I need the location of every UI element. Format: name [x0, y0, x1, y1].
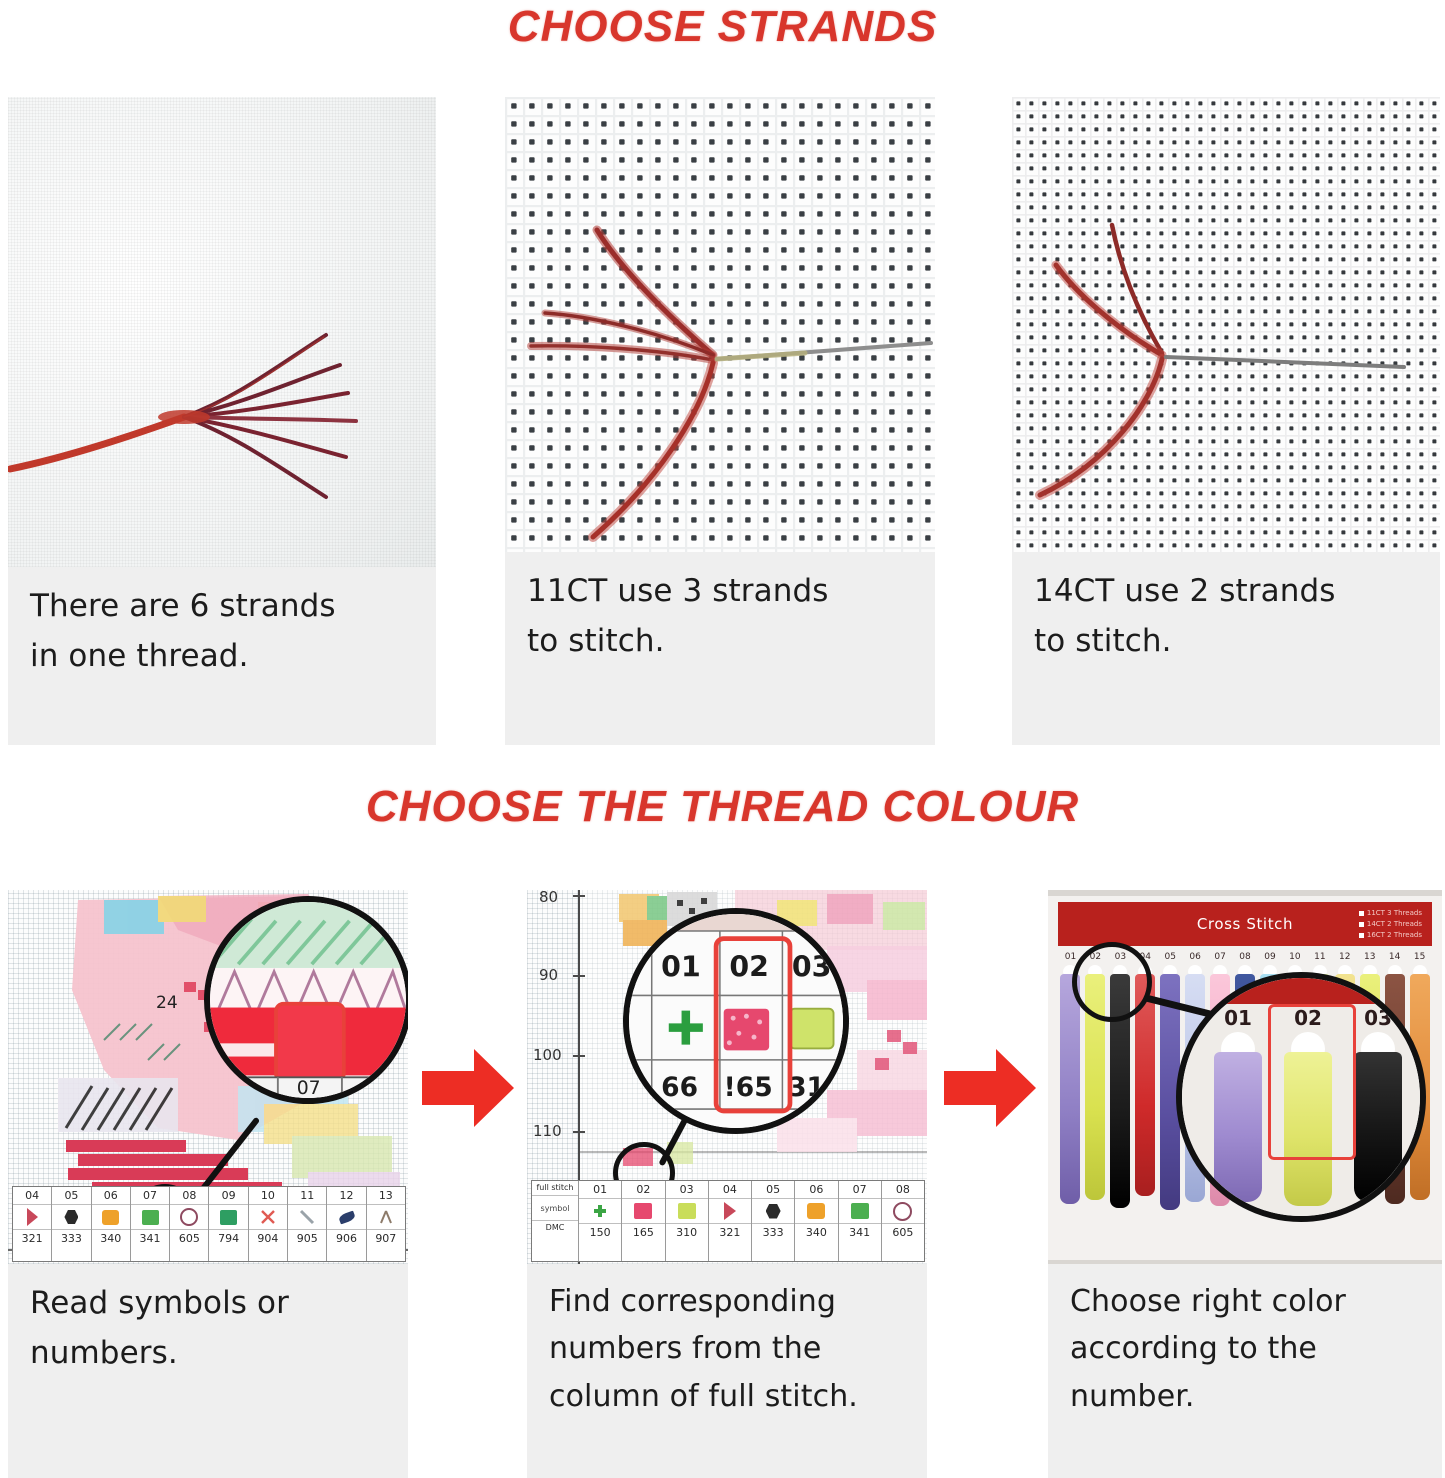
- magnifier-zoom-circle: 01 02 03: [1176, 972, 1426, 1222]
- legend-number: 02: [622, 1181, 664, 1199]
- card-14ct: 14CT use 2 strands to stitch.: [1012, 97, 1440, 745]
- legend-number: 11: [288, 1187, 326, 1205]
- legend-code: 340: [795, 1223, 837, 1241]
- legend-number: 04: [709, 1181, 751, 1199]
- svg-text:3: 3: [238, 1078, 250, 1098]
- legend-symbol-orange-square-icon: [92, 1205, 130, 1229]
- legend-number: 10: [249, 1187, 287, 1205]
- caption-choose-color: Choose right color according to the numb…: [1048, 1264, 1442, 1420]
- photo-thread-strands: [8, 97, 436, 567]
- skein-number: 13: [1357, 952, 1382, 962]
- caption-line: There are 6 strands: [30, 581, 414, 631]
- legend-symbol-grey-slash-icon: [288, 1205, 326, 1229]
- legend-column: 04 321: [709, 1181, 752, 1261]
- svg-text:!65: !65: [724, 1072, 773, 1103]
- legend-symbol-dark-green-square-icon: [209, 1205, 247, 1229]
- needle-icon: [505, 97, 935, 552]
- svg-text:02: 02: [729, 950, 769, 983]
- svg-text:310: 310: [788, 1072, 843, 1103]
- legend-table-symbols: 04 321 05 333 06 340 07: [12, 1186, 406, 1262]
- legend-column: 09 794: [209, 1187, 248, 1261]
- legend-column: 02 165: [622, 1181, 665, 1261]
- right-arrow-icon: [418, 1043, 518, 1133]
- photo-14ct-aida: [1012, 97, 1440, 552]
- legend-code: 341: [131, 1229, 169, 1247]
- checklist-item: 11CT 3 Threads: [1367, 908, 1422, 919]
- caption-11ct: 11CT use 3 strands to stitch.: [505, 552, 935, 666]
- legend-code: 794: [209, 1229, 247, 1247]
- legend-code: 165: [622, 1223, 664, 1241]
- legend-symbol-compass-icon: [367, 1205, 405, 1229]
- legend-code: 605: [170, 1229, 208, 1247]
- photo-thread-organizer: Cross Stitch 11CT 3 Threads 14CT 2 Threa…: [1048, 890, 1442, 1264]
- legend-number: 12: [327, 1187, 365, 1205]
- legend-number: 06: [92, 1187, 130, 1205]
- legend-code: 907: [367, 1229, 405, 1247]
- caption-line: Choose right color: [1070, 1278, 1420, 1325]
- magnifier-label: 07: [297, 1078, 321, 1098]
- legend-number: 09: [209, 1187, 247, 1205]
- magnifier-small-circle: [1072, 942, 1152, 1022]
- legend-code: 341: [839, 1223, 881, 1241]
- card-read-symbols: 24 07 3: [8, 890, 408, 1478]
- legend-number: 08: [170, 1187, 208, 1205]
- row-label: 80: [539, 890, 558, 906]
- checklist-item: 14CT 2 Threads: [1367, 919, 1422, 930]
- card-11ct: 11CT use 3 strands to stitch.: [505, 97, 935, 745]
- checklist-item: 16CT 2 Threads: [1367, 930, 1422, 941]
- svg-text:66: 66: [661, 1072, 698, 1103]
- legend-symbol-black-hex-icon: [52, 1205, 90, 1229]
- caption-line: numbers from the: [549, 1325, 905, 1372]
- legend-column: 06 340: [795, 1181, 838, 1261]
- skein-floss: [1060, 974, 1080, 1204]
- caption-read-symbols: Read symbols or numbers.: [8, 1264, 408, 1378]
- skein-number: 11: [1307, 952, 1332, 962]
- legend-number: 04: [13, 1187, 51, 1205]
- right-arrow-icon: [940, 1043, 1040, 1133]
- legend-symbol-pink-square-icon: [622, 1199, 664, 1223]
- legend-column: 10 904: [249, 1187, 288, 1261]
- row-label: 110: [533, 1122, 562, 1140]
- legend-code: 150: [579, 1223, 621, 1241]
- skein-number: 06: [1183, 952, 1208, 962]
- legend-column: 05 333: [52, 1187, 91, 1261]
- legend-symbol-yellow-green-square-icon: [666, 1199, 708, 1223]
- caption-line: 11CT use 3 strands: [527, 566, 913, 616]
- legend-code: 333: [52, 1229, 90, 1247]
- legend-column: 08 605: [882, 1181, 924, 1261]
- caption-line: to stitch.: [1034, 616, 1418, 666]
- page-title-choose-thread-colour: CHOOSE THE THREAD COLOUR: [0, 782, 1445, 832]
- thread-splitting-icon: [8, 97, 436, 567]
- legend-column: 08 605: [170, 1187, 209, 1261]
- legend-symbol-triangle-flag-icon: [709, 1199, 751, 1223]
- legend-number: 05: [752, 1181, 794, 1199]
- legend-symbol-orange-square-icon: [795, 1199, 837, 1223]
- card-find-numbers: 80 90 100 110 01 02: [527, 890, 927, 1478]
- legend-code: 321: [709, 1223, 751, 1241]
- caption-line: column of full stitch.: [549, 1373, 905, 1420]
- skein-number: 12: [1332, 952, 1357, 962]
- legend-code: 310: [666, 1223, 708, 1241]
- legend-code: 605: [882, 1223, 924, 1241]
- legend-code: 340: [92, 1229, 130, 1247]
- legend-symbol-green-square-icon: [839, 1199, 881, 1223]
- legend-number: 07: [839, 1181, 881, 1199]
- caption-line: number.: [1070, 1373, 1420, 1420]
- skein-floss: [1354, 1052, 1402, 1202]
- legend-code: 906: [327, 1229, 365, 1247]
- legend-symbol-red-cross-icon: [249, 1205, 287, 1229]
- skein-number: 14: [1382, 952, 1407, 962]
- photo-chart-with-legend: 80 90 100 110 01 02: [527, 890, 927, 1264]
- legend-row-headers: full stitch symbol DMC: [532, 1181, 579, 1261]
- row-label: 100: [533, 1046, 562, 1064]
- legend-number: 06: [795, 1181, 837, 1199]
- legend-column: 03 310: [666, 1181, 709, 1261]
- card-strands: There are 6 strands in one thread.: [8, 97, 436, 745]
- skein-number: 09: [1258, 952, 1283, 962]
- legend-symbol-open-circle-icon: [170, 1205, 208, 1229]
- needle-icon: [1012, 97, 1440, 552]
- legend-column: 07 341: [839, 1181, 882, 1261]
- legend-symbol-triangle-flag-icon: [13, 1205, 51, 1229]
- legend-symbol-open-circle-icon: [882, 1199, 924, 1223]
- legend-code: 905: [288, 1229, 326, 1247]
- card-choose-color: Cross Stitch 11CT 3 Threads 14CT 2 Threa…: [1048, 890, 1442, 1478]
- skein-number: 05: [1158, 952, 1183, 962]
- legend-column: 13 907: [367, 1187, 405, 1261]
- legend-number: 05: [52, 1187, 90, 1205]
- legend-number: 01: [579, 1181, 621, 1199]
- skein-number: 15: [1407, 952, 1432, 962]
- legend-code: 333: [752, 1223, 794, 1241]
- thread-card-title: Cross Stitch: [1197, 915, 1293, 933]
- legend-column: 11 905: [288, 1187, 327, 1261]
- magnifier-zoom-circle: 01 02 03 66 !65 310: [623, 908, 849, 1134]
- photo-11ct-aida: [505, 97, 935, 552]
- skein-number: 07: [1208, 952, 1233, 962]
- caption-14ct: 14CT use 2 strands to stitch.: [1012, 552, 1440, 666]
- legend-code: 904: [249, 1229, 287, 1247]
- legend-symbol-navy-leaf-icon: [327, 1205, 365, 1229]
- skein-floss: [1214, 1052, 1262, 1202]
- legend-number: 08: [882, 1181, 924, 1199]
- caption-find-numbers: Find corresponding numbers from the colu…: [527, 1264, 927, 1420]
- caption-line: according to the: [1070, 1325, 1420, 1372]
- legend-number: 07: [131, 1187, 169, 1205]
- legend-number: 13: [367, 1187, 405, 1205]
- legend-column: 01 150: [579, 1181, 622, 1261]
- caption-strands: There are 6 strands in one thread.: [8, 567, 436, 681]
- legend-column: 04 321: [13, 1187, 52, 1261]
- legend-column: 07 341: [131, 1187, 170, 1261]
- legend-column: 12 906: [327, 1187, 366, 1261]
- legend-symbol-green-square-icon: [131, 1205, 169, 1229]
- legend-row-header: full stitch: [532, 1181, 578, 1196]
- legend-code: 321: [13, 1229, 51, 1247]
- skein-number: 08: [1233, 952, 1258, 962]
- legend-symbol-green-plus-icon: [579, 1199, 621, 1223]
- caption-line: Read symbols or: [30, 1278, 386, 1328]
- caption-line: 14CT use 2 strands: [1034, 566, 1418, 616]
- chart-area-number: 24: [156, 993, 178, 1013]
- legend-row-header: DMC: [532, 1220, 578, 1235]
- caption-line: numbers.: [30, 1328, 386, 1378]
- skein-number: 10: [1282, 952, 1307, 962]
- magnified-legend-detail: 01 02 03 66 !65 310: [629, 914, 843, 1128]
- magnifier-zoom-circle: 3 07: [204, 896, 408, 1104]
- caption-line: Find corresponding: [549, 1278, 905, 1325]
- svg-text:03: 03: [792, 950, 832, 983]
- caption-line: in one thread.: [30, 631, 414, 681]
- legend-row-header: symbol: [532, 1196, 578, 1220]
- page-title-choose-strands: CHOOSE STRANDS: [0, 2, 1445, 52]
- photo-pattern-chart: 24 07 3: [8, 890, 408, 1264]
- magnified-skein-number: 01: [1206, 1006, 1270, 1030]
- magnified-stitch-detail: 3 07: [210, 902, 406, 1098]
- highlight-box-selected-color: [1268, 1004, 1356, 1160]
- thread-card-checklist: 11CT 3 Threads 14CT 2 Threads 16CT 2 Thr…: [1359, 908, 1422, 941]
- row-label: 90: [539, 966, 558, 984]
- legend-table-full-stitch: full stitch symbol DMC 01 150 02 165 03: [531, 1180, 925, 1262]
- legend-symbol-black-hex-icon: [752, 1199, 794, 1223]
- legend-number: 03: [666, 1181, 708, 1199]
- magnified-skein: 01: [1206, 1006, 1270, 1216]
- thread-card-header: Cross Stitch 11CT 3 Threads 14CT 2 Threa…: [1058, 902, 1432, 946]
- legend-column: 06 340: [92, 1187, 131, 1261]
- legend-column: 05 333: [752, 1181, 795, 1261]
- caption-line: to stitch.: [527, 616, 913, 666]
- svg-text:01: 01: [661, 950, 701, 983]
